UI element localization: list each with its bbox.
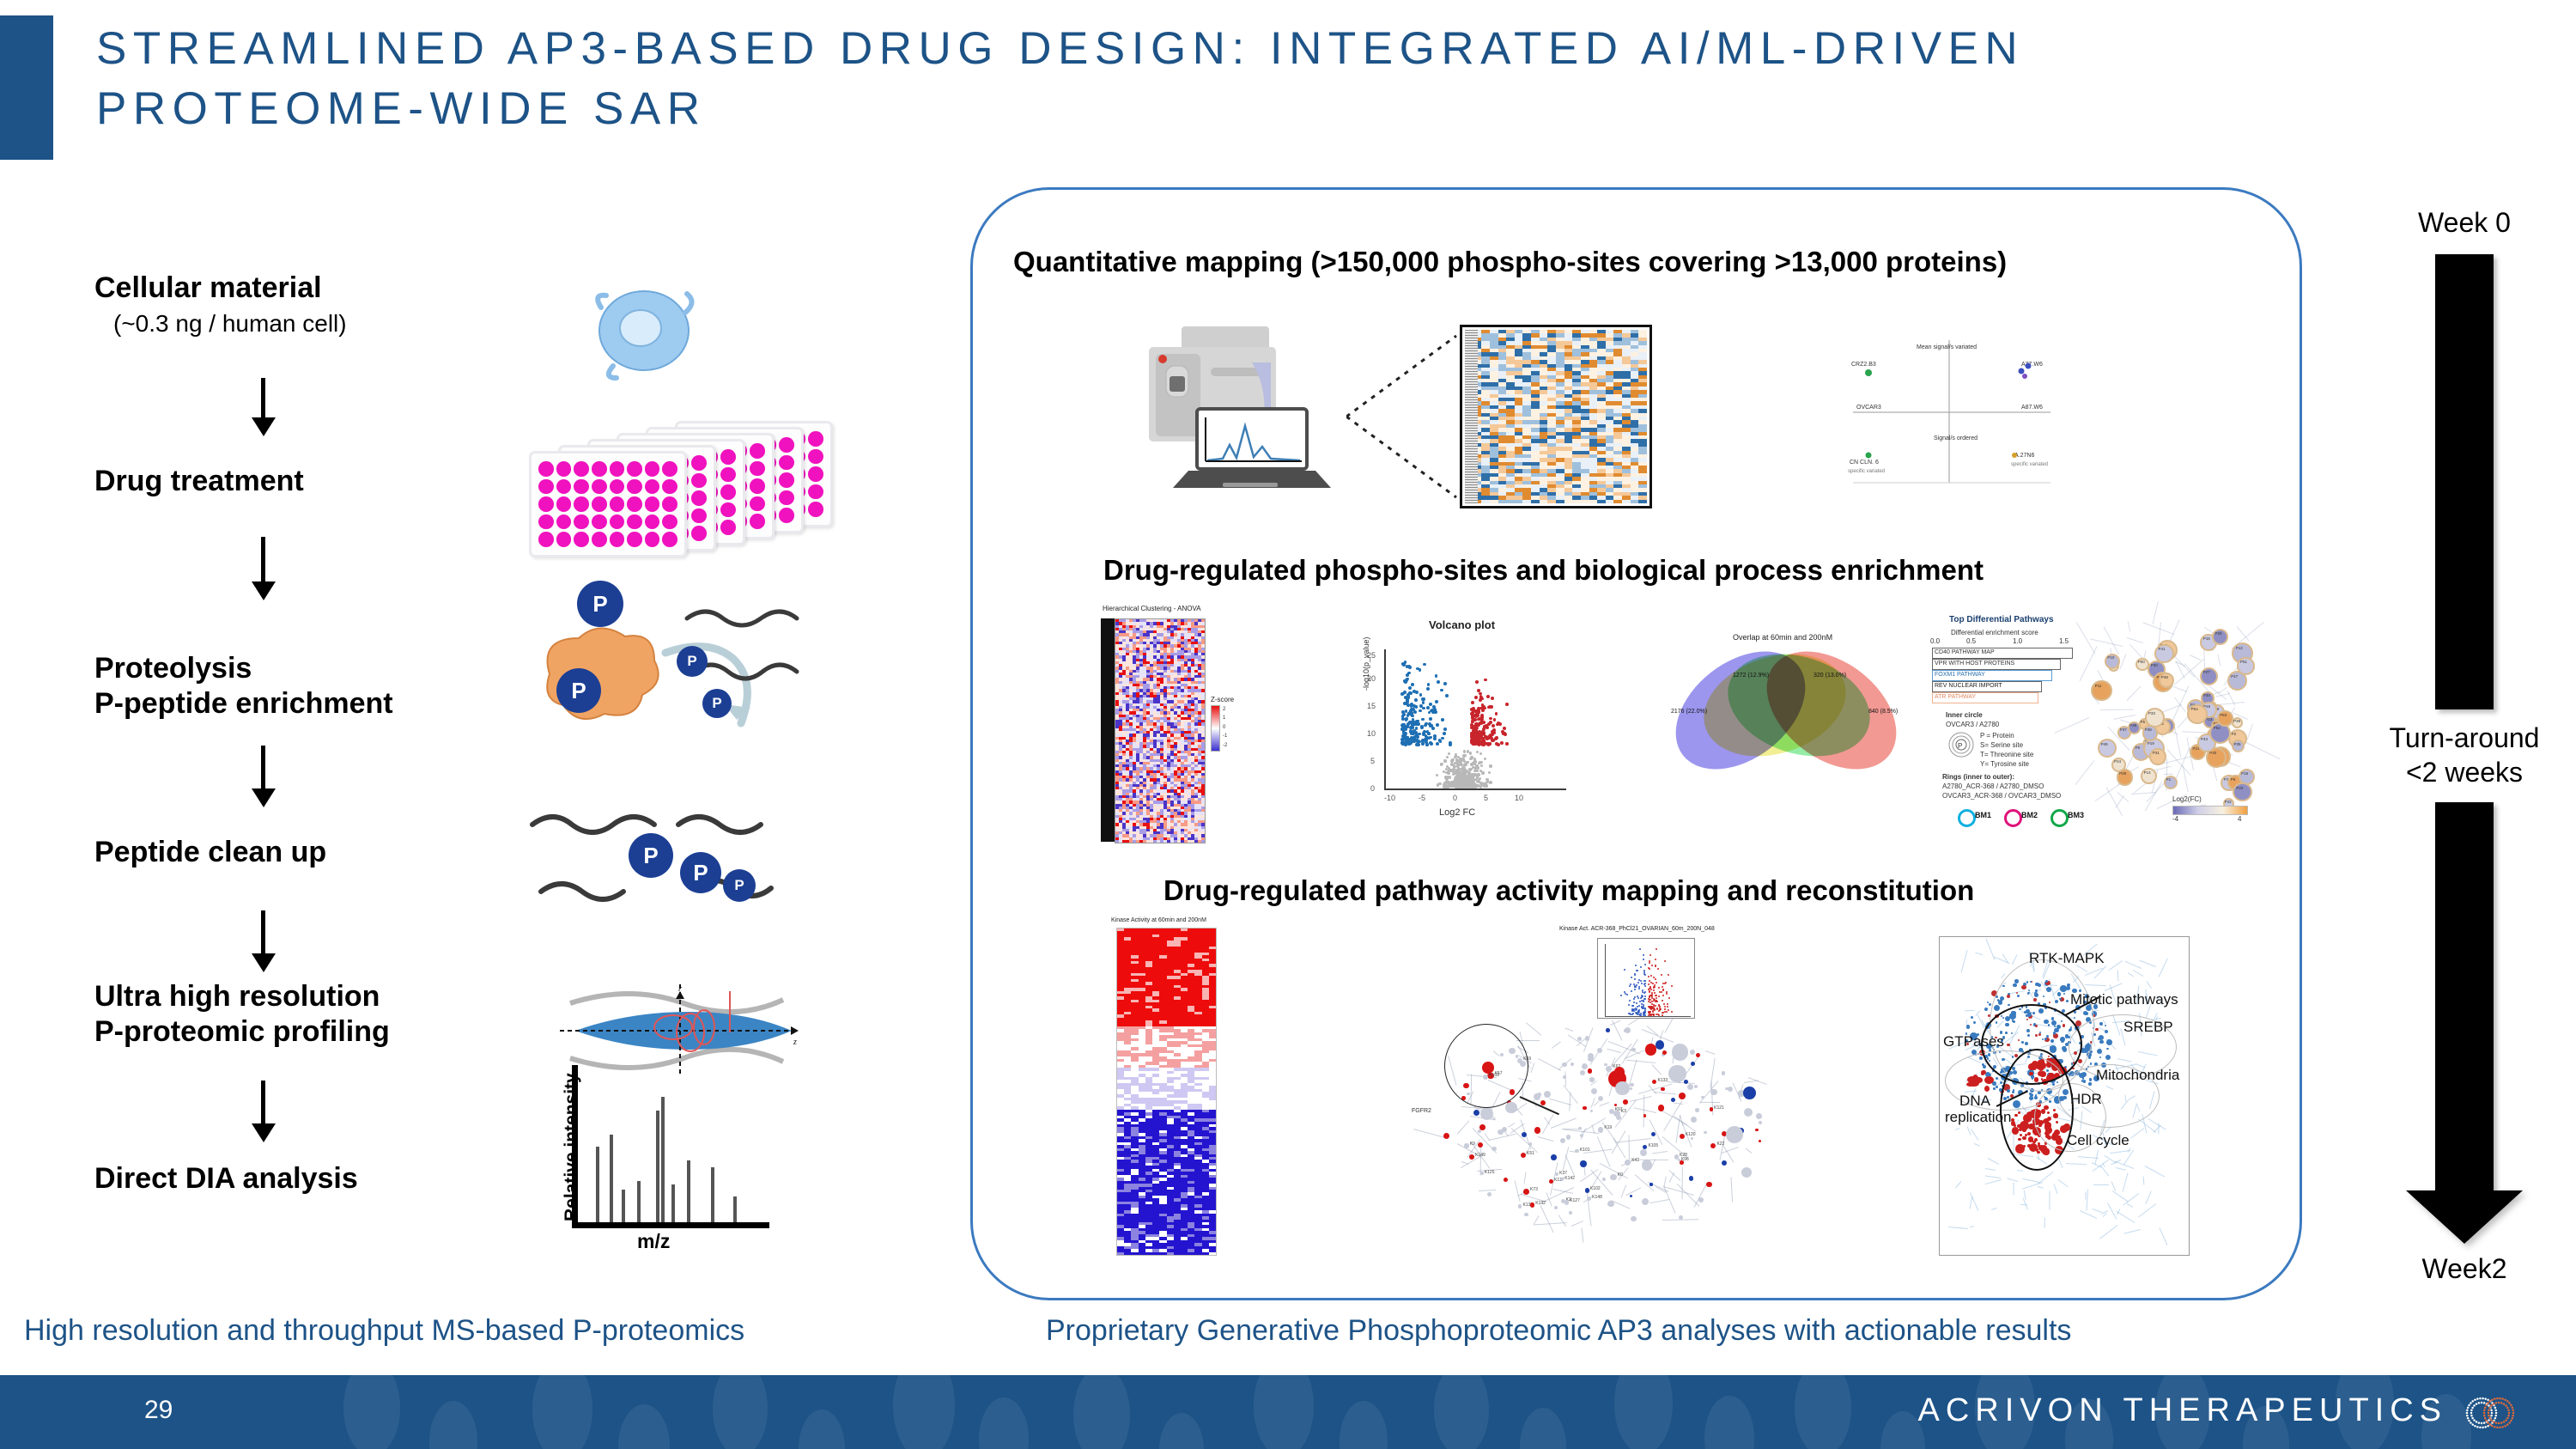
scale-tick: 1.5: [2059, 637, 2069, 645]
colorbar-min: -4: [2172, 815, 2178, 823]
scale-tick: 0.5: [1966, 637, 1976, 645]
pathway-label: ATR PATHWAY: [1933, 694, 1976, 700]
clustering-legend: Z-score 2 1 0 -1 -2: [1211, 696, 1254, 752]
volcano-y-tick: 20: [1367, 674, 1376, 683]
volcano-data-points: [1384, 649, 1566, 788]
workflow-step-proteolysis: Proteolysis P-peptide enrichment: [94, 651, 393, 722]
venn-diagram-figure: Overlap at 60min and 200nM 2176 (22.0%) …: [1657, 623, 1906, 837]
figure-title: Overlap at 60min and 200nM: [1733, 633, 1832, 642]
caption-right: Proprietary Generative Phosphoproteomic …: [1046, 1314, 2071, 1348]
proteolysis-illustration: P P P P: [515, 593, 841, 764]
signal-quadrant-plot: Mean signal/s variated CRZ2.B3 A27.W6 OV…: [1838, 326, 2061, 498]
legend-tick: -1: [1223, 732, 1227, 740]
phospho-badge: P: [723, 869, 756, 902]
ring-key-icon: P: [1947, 730, 1975, 759]
svg-text:OVCAR3: OVCAR3: [1856, 405, 1881, 411]
volcano-x-tick: 10: [1515, 794, 1523, 802]
page-number: 29: [144, 1396, 173, 1425]
legend-colorbar: [1211, 705, 1220, 752]
volcano-x-axis-label: Log2 FC: [1439, 807, 1475, 818]
biomarker-label: BM2: [2021, 811, 2038, 819]
venn-count: 1272 (12.9%): [1733, 673, 1769, 680]
volcano-plot-figure: Volcano plot -log10(p_value) 0 5 10 15 2…: [1357, 617, 1597, 840]
workflow-step-direct-dia-analysis: Direct DIA analysis: [94, 1161, 358, 1196]
biomarker-ring-bm2: [2004, 809, 2022, 827]
timeline-arrow-lower: [2435, 802, 2494, 1190]
title-line-2: PROTEOME-WIDE SAR: [96, 79, 2260, 139]
pathway-key-item: Y= Tyrosine site: [1980, 760, 2029, 768]
workflow-arrow-4: [249, 910, 278, 977]
workflow-step-label: Cellular material: [94, 271, 347, 306]
biomarker-label: BM3: [2068, 811, 2084, 819]
network-label-cell-cycle: Cell cycle: [2067, 1133, 2129, 1149]
workflow-step-label: Proteolysis: [94, 651, 393, 686]
network-label-hdr: HDR: [2070, 1092, 2102, 1108]
svg-text:z: z: [793, 1038, 797, 1047]
rings-item: OVCAR3_ACR-368 / OVCAR3_DMSO: [1942, 792, 2061, 800]
phospho-badge: P: [629, 833, 673, 878]
section-header-quantitative-mapping: Quantitative mapping (>150,000 phospho-s…: [1013, 246, 2007, 278]
phospho-badge: P: [680, 852, 721, 893]
mass-spectrometer-illustration: [1140, 316, 1338, 496]
dendrogram: [1101, 618, 1115, 842]
pathway-label: REV NUCLEAR IMPORT: [1933, 683, 2002, 689]
svg-text:P: P: [1958, 742, 1962, 750]
volcano-y-tick: 5: [1370, 757, 1375, 765]
colorbar-max: 4: [2238, 815, 2241, 823]
network-label-rtk-mapk: RTK-MAPK: [2029, 951, 2105, 967]
figure-title: Kinase Activity at 60min and 200nM: [1111, 917, 1206, 923]
svg-text:Signal/s ordered: Signal/s ordered: [1934, 435, 1978, 441]
peptide-cleanup-illustration: P P P: [524, 799, 850, 928]
network-inset-volcano: [1597, 938, 1695, 1019]
workflow-step-peptide-clean-up: Peptide clean up: [94, 835, 326, 870]
pathway-key-item: P = Protein: [1980, 732, 2014, 740]
pathway-bar: CD40 PATHWAY MAP: [1932, 648, 2073, 659]
mass-spectrometry-illustration: r z Relative intensity m/z: [532, 979, 816, 1271]
ms-x-axis: [572, 1222, 769, 1228]
workflow-step-label: Peptide clean up: [94, 835, 326, 870]
quantitative-heatmap: [1460, 325, 1652, 508]
workflow-step-ultra-high-resolution: Ultra high resolution P-proteomic profil…: [94, 979, 390, 1050]
pathway-network: P1P2P3P4P5P6P7P8P9P10P11P12P13P14P15P16P…: [2088, 620, 2257, 818]
figure-title: Volcano plot: [1429, 618, 1495, 631]
top-differential-pathways-figure: Top Differential Pathways Differential e…: [1930, 615, 2255, 845]
phospho-badge: P: [556, 668, 601, 713]
pathway-label: VPR WITH HOST PROTEINS: [1933, 661, 2014, 667]
workflow-step-drug-treatment: Drug treatment: [94, 464, 304, 499]
venn-count: 2176 (22.0%): [1671, 709, 1707, 716]
section-header-pathway-activity: Drug-regulated pathway activity mapping …: [1163, 874, 1974, 907]
inner-circle-sub: OVCAR3 / A2780: [1946, 721, 1999, 728]
workflow-step-label: Direct DIA analysis: [94, 1161, 358, 1196]
colorbar-label: Log2(FC): [2172, 795, 2202, 803]
svg-text:specific variated: specific variated: [1848, 469, 1885, 474]
timeline-end-label: Week2: [2353, 1252, 2576, 1285]
title-accent-bar: [0, 15, 53, 160]
brand-name: ACRIVON THERAPEUTICS: [1918, 1392, 2447, 1429]
kinase-network-figure: Kinase Act. ACR-368_PhCl21_OVARIAN_60m_2…: [1391, 928, 1872, 1271]
timeline-arrow-head: [2406, 1190, 2523, 1244]
legend-tick: 0: [1223, 723, 1227, 732]
volcano-y-tick: 0: [1370, 784, 1375, 793]
volcano-x-tick: 0: [1453, 794, 1457, 802]
caption-left: High resolution and throughput MS-based …: [24, 1314, 744, 1348]
pathway-bar: REV NUCLEAR IMPORT: [1932, 681, 2042, 692]
svg-text:A.27N6: A.27N6: [2014, 453, 2034, 459]
biomarker-label: BM1: [1975, 811, 1991, 819]
phospho-badge: P: [677, 646, 708, 677]
expander-lines: [1346, 331, 1460, 502]
svg-text:A87.W6: A87.W6: [2021, 405, 2043, 411]
biomarker-ring-bm1: [1958, 809, 1976, 827]
network-label-dna-replication: DNA replication: [1945, 1093, 2005, 1125]
enrichment-score-label: Differential enrichment score: [1951, 629, 2038, 636]
workflow-arrow-2: [249, 537, 278, 606]
timeline-arrow-upper: [2435, 254, 2494, 709]
scale-tick: 0.0: [1930, 637, 1940, 645]
acrivon-logo-icon: [2459, 1391, 2523, 1435]
cell-illustration: [584, 275, 704, 387]
volcano-y-tick: 25: [1367, 651, 1376, 660]
slide: STREAMLINED AP3-BASED DRUG DESIGN: INTEG…: [0, 0, 2576, 1449]
timeline: Week 0 Turn-around <2 weeks Week2: [2353, 206, 2576, 1314]
microplate-stack: [515, 421, 833, 550]
legend-title: Z-score: [1211, 696, 1254, 703]
network-label-mitochondria: Mitochondria: [2096, 1068, 2179, 1084]
pathway-key-item: T= Threonine site: [1980, 751, 2033, 758]
pathway-label: CD40 PATHWAY MAP: [1933, 649, 1995, 655]
volcano-x-tick: -5: [1419, 794, 1425, 802]
svg-text:CN CLN. 6: CN CLN. 6: [1850, 460, 1879, 466]
kinase-activity-figure: Kinase Activity at 60min and 200nM: [1109, 926, 1217, 1257]
workflow-step-label: P-proteomic profiling: [94, 1014, 390, 1050]
log2fc-colorbar: [2172, 806, 2248, 815]
orbitrap-schematic: r z: [551, 979, 809, 1078]
inner-circle-title: Inner circle: [1946, 711, 1983, 719]
network-label-gtpases: GTPases: [1943, 1034, 2004, 1050]
workflow-arrow-1: [249, 378, 278, 440]
section-header-drug-regulated-phospho-sites: Drug-regulated phospho-sites and biologi…: [1103, 554, 1984, 587]
venn-count: 840 (8.5%): [1868, 709, 1898, 716]
legend-tick: 2: [1223, 705, 1227, 714]
pathway-bar: ATR PATHWAY: [1932, 692, 2038, 703]
scale-tick: 1.0: [2013, 637, 2022, 645]
network-label-srebp: SREBP: [2123, 1020, 2173, 1036]
figure-title: Top Differential Pathways: [1949, 615, 2054, 624]
timeline-middle-label-1: Turn-around: [2353, 721, 2576, 754]
timeline-middle-label-2: <2 weeks: [2353, 756, 2576, 788]
page-title: STREAMLINED AP3-BASED DRUG DESIGN: INTEG…: [96, 19, 2260, 139]
venn-count: 320 (13.0%): [1814, 673, 1846, 680]
workflow-step-label: Ultra high resolution: [94, 979, 390, 1014]
svg-text:A27.W6: A27.W6: [2021, 362, 2043, 368]
ms-x-axis-label: m/z: [637, 1230, 670, 1253]
workflow-arrow-5: [249, 1081, 278, 1148]
workflow-step-cellular-material: Cellular material (~0.3 ng / human cell): [94, 271, 347, 338]
title-line-1: STREAMLINED AP3-BASED DRUG DESIGN: INTEG…: [96, 19, 2260, 79]
legend-tick: -2: [1223, 741, 1227, 750]
volcano-y-tick: 15: [1367, 702, 1376, 710]
volcano-x-tick: -10: [1384, 794, 1395, 802]
phospho-badge: P: [702, 689, 732, 718]
annotated-network-figure: RTK-MAPK Mitotic pathways SREBP GTPases …: [1939, 936, 2190, 1256]
network-label-mitotic: Mitotic pathways: [2070, 992, 2178, 1008]
ms-spectrum-peaks: [572, 1065, 771, 1222]
rings-title: Rings (inner to outer):: [1942, 773, 2014, 781]
biomarker-ring-bm3: [2050, 809, 2069, 827]
phospho-badge: P: [577, 581, 623, 627]
volcano-x-axis: [1384, 788, 1566, 790]
workflow-step-sublabel: (~0.3 ng / human cell): [113, 309, 347, 338]
hierarchical-clustering-figure: Hierarchical Clustering - ANOVA: [1101, 613, 1204, 845]
svg-text:CRZ2.B3: CRZ2.B3: [1851, 362, 1876, 368]
svg-text:Mean signal/s variated: Mean signal/s variated: [1917, 344, 1977, 350]
rings-item: A2780_ACR-368 / A2780_DMSO: [1942, 782, 2044, 790]
timeline-start-label: Week 0: [2353, 206, 2576, 239]
workflow-step-label: P-peptide enrichment: [94, 686, 393, 721]
pathway-label: FOXM1 PATHWAY: [1933, 672, 1985, 678]
legend-ticks: 2 1 0 -1 -2: [1223, 705, 1227, 752]
volcano-y-tick: 10: [1367, 729, 1376, 738]
pathway-key-item: S= Serine site: [1980, 741, 2023, 749]
pathway-bar: FOXM1 PATHWAY: [1932, 670, 2052, 681]
legend-tick: 1: [1223, 714, 1227, 722]
svg-text:r: r: [678, 984, 682, 994]
volcano-x-tick: 5: [1484, 794, 1488, 802]
svg-text:specific variated: specific variated: [2011, 462, 2048, 467]
workflow-step-label: Drug treatment: [94, 464, 304, 499]
footer-bar: 29 ACRIVON THERAPEUTICS: [0, 1375, 2576, 1449]
microplate: [529, 451, 687, 557]
pathway-bar: VPR WITH HOST PROTEINS: [1932, 659, 2061, 670]
workflow-arrow-3: [249, 746, 278, 813]
figure-title: Hierarchical Clustering - ANOVA: [1103, 605, 1201, 612]
